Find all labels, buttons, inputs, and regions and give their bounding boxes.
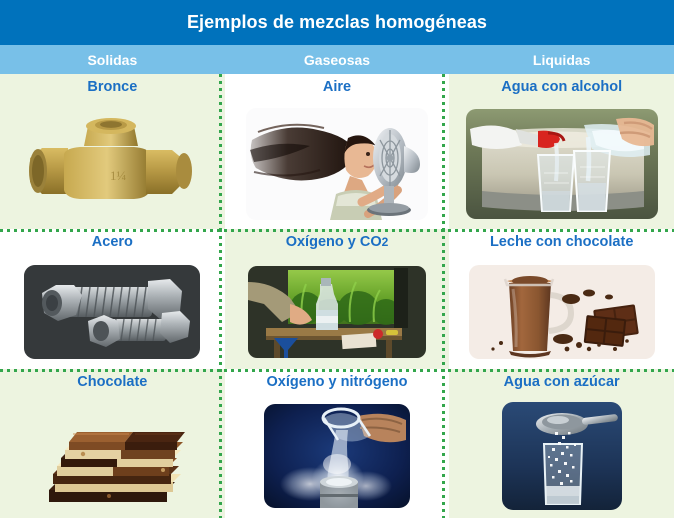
cell-label-subscript: 2 bbox=[382, 235, 389, 249]
cell-aire[interactable]: Aire bbox=[225, 74, 450, 229]
svg-text:1¼: 1¼ bbox=[110, 168, 127, 183]
brass-valve-photo: 1¼ bbox=[0, 100, 225, 229]
column-header-bar: Solidas Gaseosas Liquidas bbox=[0, 45, 674, 74]
grid-row: Acero bbox=[0, 229, 674, 369]
steel-bolts-photo bbox=[0, 255, 225, 369]
cell-label-agua-con-azucar: Agua con azúcar bbox=[504, 375, 620, 391]
cell-agua-con-alcohol[interactable]: Agua con alcohol bbox=[449, 74, 674, 229]
homogeneous-mixtures-infographic: Ejemplos de mezclas homogéneas Solidas G… bbox=[0, 0, 674, 518]
cell-oxigeno-y-nitrogeno[interactable]: Oxígeno y nitrógeno bbox=[225, 369, 450, 518]
mixtures-grid: Bronce bbox=[0, 74, 674, 518]
woman-with-fan-photo bbox=[225, 100, 450, 229]
column-header-solidas: Solidas bbox=[0, 45, 225, 74]
column-header-gaseosas: Gaseosas bbox=[225, 45, 450, 74]
cell-bronce[interactable]: Bronce bbox=[0, 74, 225, 229]
cell-label-oxigeno-y-co2: Oxígeno y CO2 bbox=[286, 235, 389, 251]
aquarium-co2-setup-photo bbox=[225, 255, 450, 369]
page-title: Ejemplos de mezclas homogéneas bbox=[0, 0, 674, 45]
pouring-water-and-alcohol-photo bbox=[449, 100, 674, 229]
cell-agua-con-azucar[interactable]: Agua con azúcar bbox=[449, 369, 674, 518]
sugar-spoon-into-glass-photo bbox=[449, 395, 674, 518]
cell-label-oxigeno-y-nitrogeno: Oxígeno y nitrógeno bbox=[267, 375, 408, 391]
liquid-nitrogen-pour-photo bbox=[225, 395, 450, 518]
cell-label-bronce: Bronce bbox=[87, 80, 137, 96]
cell-label-agua-con-alcohol: Agua con alcohol bbox=[501, 80, 622, 96]
chocolate-milk-mug-photo bbox=[449, 255, 674, 369]
grid-row: Bronce bbox=[0, 74, 674, 229]
cell-label-aire: Aire bbox=[323, 80, 351, 96]
stacked-chocolate-bars-photo bbox=[0, 395, 225, 518]
cell-oxigeno-y-co2[interactable]: Oxígeno y CO2 bbox=[225, 229, 450, 369]
cell-label-main: Oxígeno y CO bbox=[286, 234, 382, 250]
cell-label-acero: Acero bbox=[92, 235, 133, 251]
cell-acero[interactable]: Acero bbox=[0, 229, 225, 369]
cell-label-leche-con-chocolate: Leche con chocolate bbox=[490, 235, 633, 251]
cell-leche-con-chocolate[interactable]: Leche con chocolate bbox=[449, 229, 674, 369]
column-header-liquidas: Liquidas bbox=[449, 45, 674, 74]
cell-label-chocolate: Chocolate bbox=[77, 375, 147, 391]
cell-chocolate[interactable]: Chocolate bbox=[0, 369, 225, 518]
grid-row: Chocolate bbox=[0, 369, 674, 518]
